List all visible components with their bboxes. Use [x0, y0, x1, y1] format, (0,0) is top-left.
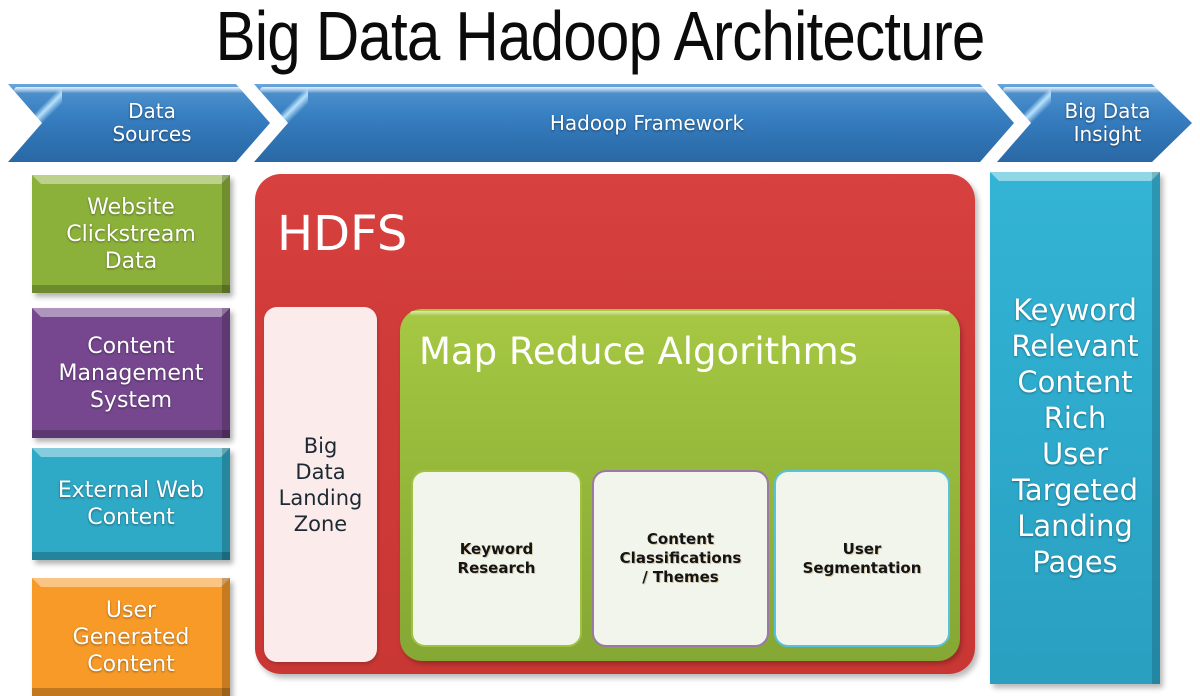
source-box-user-generated-content-label: UserGeneratedContent	[67, 597, 196, 678]
source-box-website-clickstream-data-label: WebsiteClickstreamData	[60, 194, 202, 275]
source-box-website-clickstream-data: WebsiteClickstreamData	[32, 175, 230, 293]
source-box-external-web-content: External WebContent	[32, 448, 230, 560]
card-user-segmentation: UserSegmentation	[774, 470, 950, 647]
chevron-big-data-insight-label: Big DataInsight	[1064, 100, 1150, 146]
insight-column-label: KeywordRelevantContentRichUserTargetedLa…	[1011, 172, 1138, 580]
card-keyword-research-label: KeywordResearch	[458, 540, 536, 578]
hdfs-label: HDFS	[277, 207, 407, 261]
insight-column: KeywordRelevantContentRichUserTargetedLa…	[990, 172, 1160, 684]
big-data-landing-zone: BigDataLandingZone	[264, 307, 377, 662]
chevron-big-data-insight: Big DataInsight	[997, 84, 1192, 162]
chevron-hadoop-framework-label: Hadoop Framework	[550, 112, 744, 135]
diagram-canvas: Big Data Hadoop Architecture DataSources…	[0, 0, 1200, 667]
chevron-data-sources: DataSources	[8, 84, 270, 162]
chevron-data-sources-label: DataSources	[112, 100, 191, 146]
card-content-classifications-themes-label: ContentClassifications/ Themes	[620, 530, 742, 587]
source-box-content-management-system-label: ContentManagementSystem	[53, 333, 210, 414]
map-reduce-label: Map Reduce Algorithms	[419, 330, 858, 374]
source-box-external-web-content-label: External WebContent	[52, 477, 210, 531]
source-box-content-management-system: ContentManagementSystem	[32, 308, 230, 438]
card-content-classifications-themes: ContentClassifications/ Themes	[592, 470, 769, 647]
page-title: Big Data Hadoop Architecture	[84, 0, 1116, 76]
big-data-landing-zone-label: BigDataLandingZone	[279, 433, 363, 537]
card-keyword-research: KeywordResearch	[411, 470, 582, 647]
card-user-segmentation-label: UserSegmentation	[803, 540, 922, 578]
source-box-user-generated-content: UserGeneratedContent	[32, 578, 230, 696]
chevron-hadoop-framework: Hadoop Framework	[254, 84, 1014, 162]
